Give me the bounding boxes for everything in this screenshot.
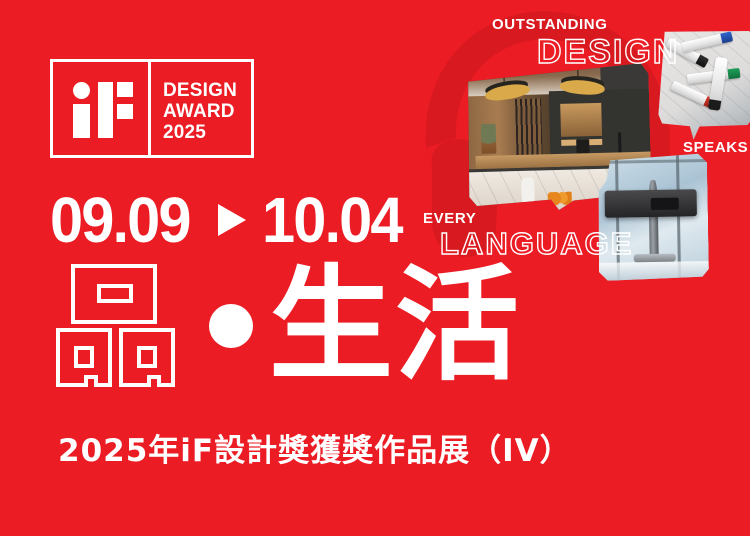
if-letter-i-stem [73,104,90,138]
tag-design: DESIGN [537,33,679,72]
headline: 生活 [54,262,521,389]
logo-text-block: DESIGN AWARD 2025 [163,80,237,143]
date-arrow-icon [218,204,246,236]
if-logo-text-panel: DESIGN AWARD 2025 [151,62,251,155]
headline-dot-separator [209,304,253,348]
tag-every: EVERY [423,210,476,227]
tag-outstanding: OUTSTANDING [492,16,607,33]
pin-character-outline [54,262,179,389]
if-letter-f-arm-top [117,82,133,97]
poster-canvas: OUTSTANDING DESIGN SPEAKS EVERY LANGUAGE… [0,0,750,536]
event-date-range: 09.09 10.04 [50,188,412,252]
if-letter-f-bar [98,82,113,138]
if-design-award-logo: DESIGN AWARD 2025 [50,59,254,158]
if-letter-f-arm-mid [117,104,133,119]
date-start: 09.09 [50,188,190,252]
date-end: 10.04 [262,188,402,252]
headline-main-text: 生活 [269,271,521,381]
if-mark-icon [73,82,133,138]
tag-speaks: SPEAKS [683,139,748,156]
logo-line-design: DESIGN [163,80,237,101]
logo-line-year: 2025 [163,122,237,143]
if-letter-i-dot [73,82,90,99]
exhibition-subtitle: 2025年iF設計獎獲獎作品展（IV） [58,425,572,470]
if-logo-mark-panel [53,62,148,155]
logo-line-award: AWARD [163,101,237,122]
